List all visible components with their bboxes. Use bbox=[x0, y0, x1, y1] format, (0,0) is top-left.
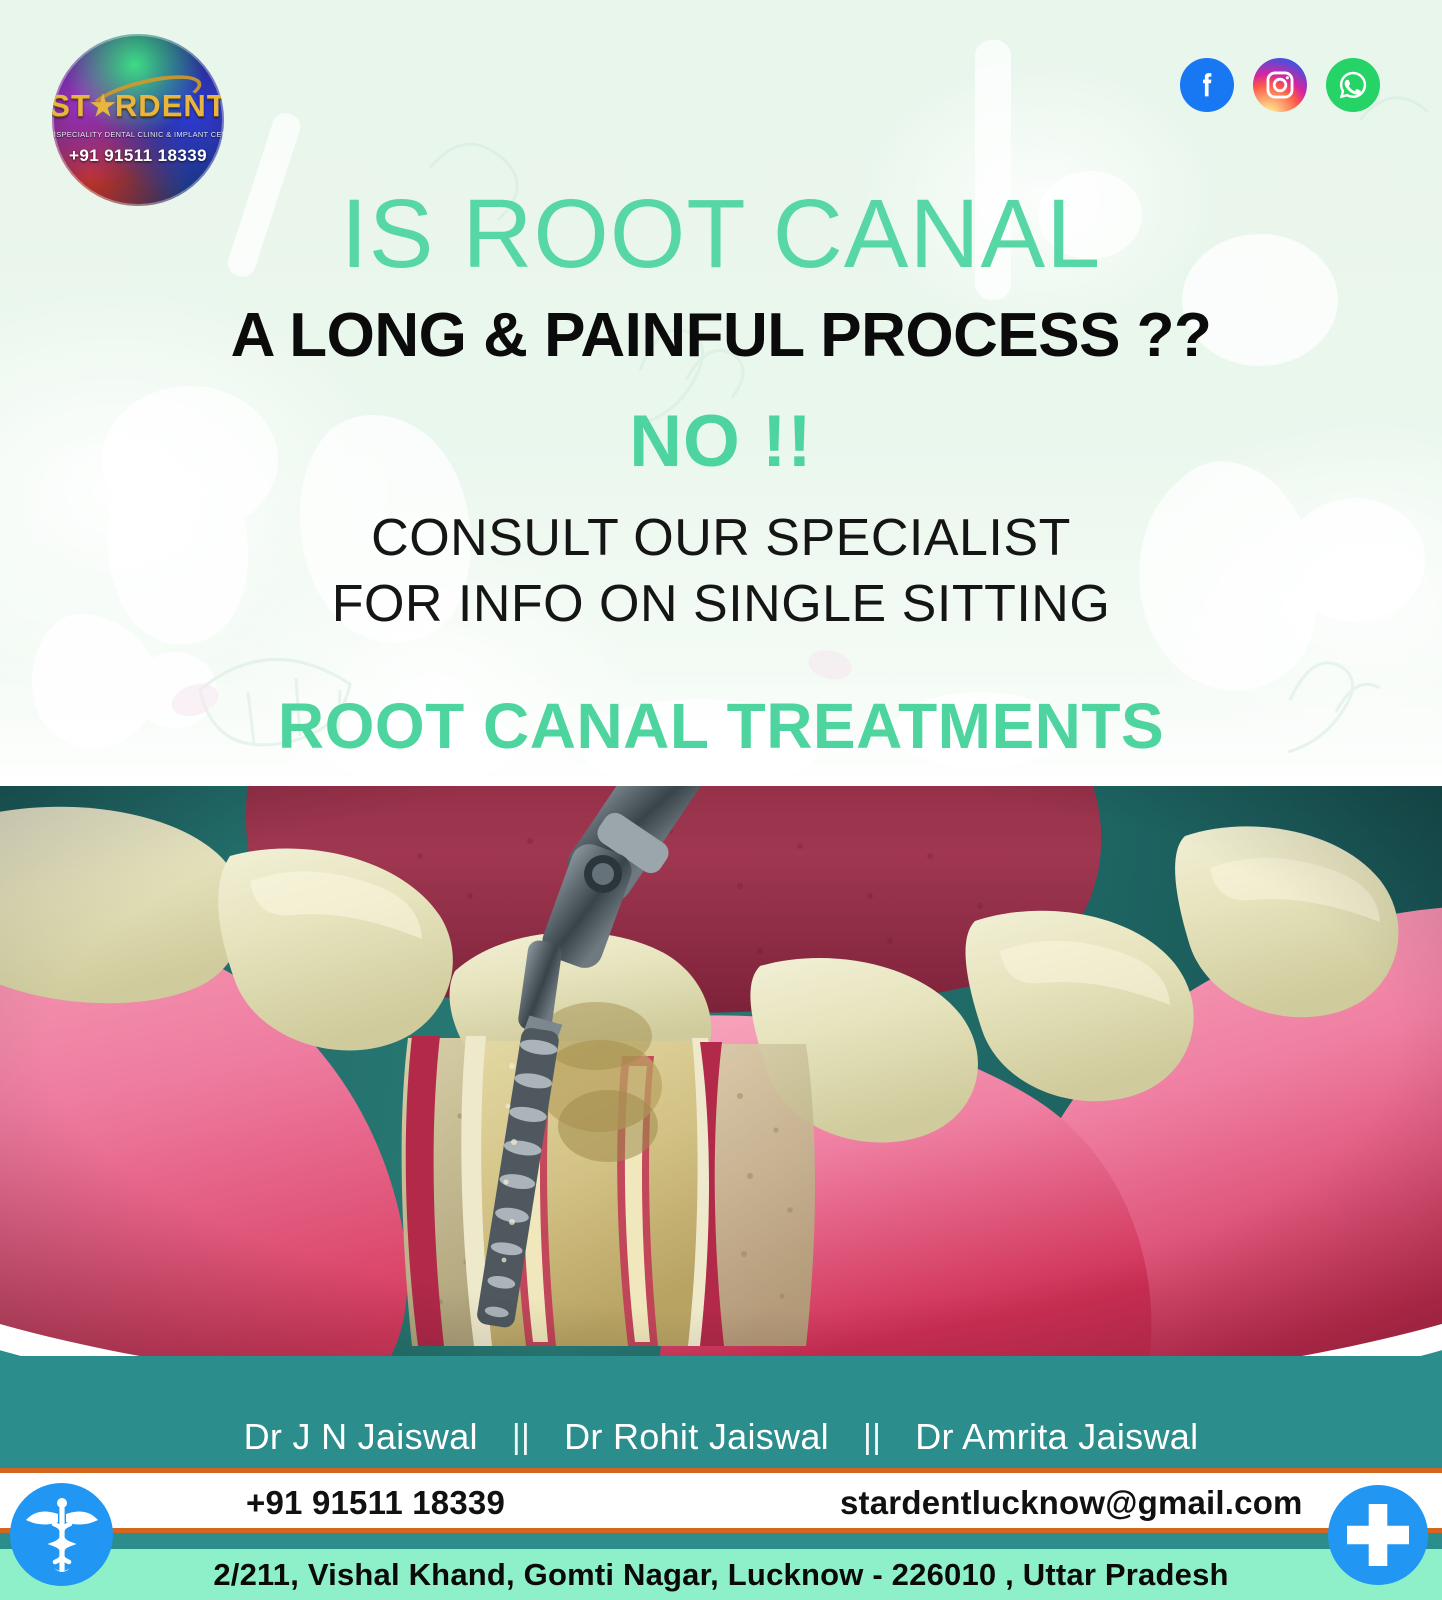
logo-tagline: MULTISPECIALITY DENTAL CLINIC & IMPLANT … bbox=[52, 130, 224, 139]
address-band: 2/211, Vishal Khand, Gomti Nagar, Luckno… bbox=[0, 1549, 1442, 1600]
headline-line-3: NO !! bbox=[0, 405, 1442, 478]
headline-line-6: ROOT CANAL TREATMENTS bbox=[0, 694, 1442, 758]
headline-line-5: FOR INFO ON SINGLE SITTING bbox=[0, 578, 1442, 630]
facebook-glyph bbox=[1190, 68, 1224, 102]
instagram-glyph bbox=[1263, 68, 1297, 102]
logo-phone: +91 91511 18339 bbox=[69, 146, 207, 166]
doctor-separator-2: || bbox=[863, 1418, 881, 1457]
doctor-separator-1: || bbox=[512, 1418, 530, 1457]
doctors-band: Dr J N Jaiswal || Dr Rohit Jaiswal || Dr… bbox=[0, 1356, 1442, 1468]
social-links bbox=[1180, 58, 1380, 112]
doctor-name-1: Dr J N Jaiswal bbox=[244, 1416, 478, 1458]
contact-email[interactable]: stardentlucknow@gmail.com bbox=[840, 1484, 1303, 1522]
logo-name-part1: ST bbox=[52, 88, 91, 124]
headline-line-1: IS ROOT CANAL bbox=[0, 185, 1442, 282]
caduceus-icon bbox=[10, 1483, 113, 1586]
cross-glyph bbox=[1347, 1504, 1409, 1566]
logo-wordmark: ST RDENT bbox=[52, 88, 224, 124]
doctors-list: Dr J N Jaiswal || Dr Rohit Jaiswal || Dr… bbox=[244, 1416, 1199, 1458]
logo-name-part2: RDENT bbox=[115, 88, 224, 124]
doctor-name-3: Dr Amrita Jaiswal bbox=[915, 1416, 1198, 1458]
star-icon bbox=[90, 93, 116, 119]
root-canal-photo bbox=[0, 786, 1442, 1356]
clinic-address: 2/211, Vishal Khand, Gomti Nagar, Luckno… bbox=[213, 1557, 1228, 1593]
poster-root: ST RDENT MULTISPECIALITY DENTAL CLINIC &… bbox=[0, 0, 1442, 1600]
contact-phone[interactable]: +91 91511 18339 bbox=[246, 1484, 505, 1522]
root-canal-illustration bbox=[0, 786, 1442, 1356]
doctor-name-2: Dr Rohit Jaiswal bbox=[564, 1416, 829, 1458]
caduceus-glyph bbox=[24, 1494, 100, 1576]
header-section: ST RDENT MULTISPECIALITY DENTAL CLINIC &… bbox=[0, 0, 1442, 790]
whatsapp-icon[interactable] bbox=[1326, 58, 1380, 112]
headline-line-4: CONSULT OUR SPECIALIST bbox=[0, 512, 1442, 564]
whatsapp-glyph bbox=[1335, 67, 1371, 103]
medical-cross-icon bbox=[1328, 1485, 1428, 1585]
clinic-logo[interactable]: ST RDENT MULTISPECIALITY DENTAL CLINIC &… bbox=[52, 34, 224, 206]
headline-line-2: A LONG & PAINFUL PROCESS ?? bbox=[0, 305, 1442, 367]
teal-thin-band bbox=[0, 1533, 1442, 1549]
instagram-icon[interactable] bbox=[1253, 58, 1307, 112]
facebook-icon[interactable] bbox=[1180, 58, 1234, 112]
